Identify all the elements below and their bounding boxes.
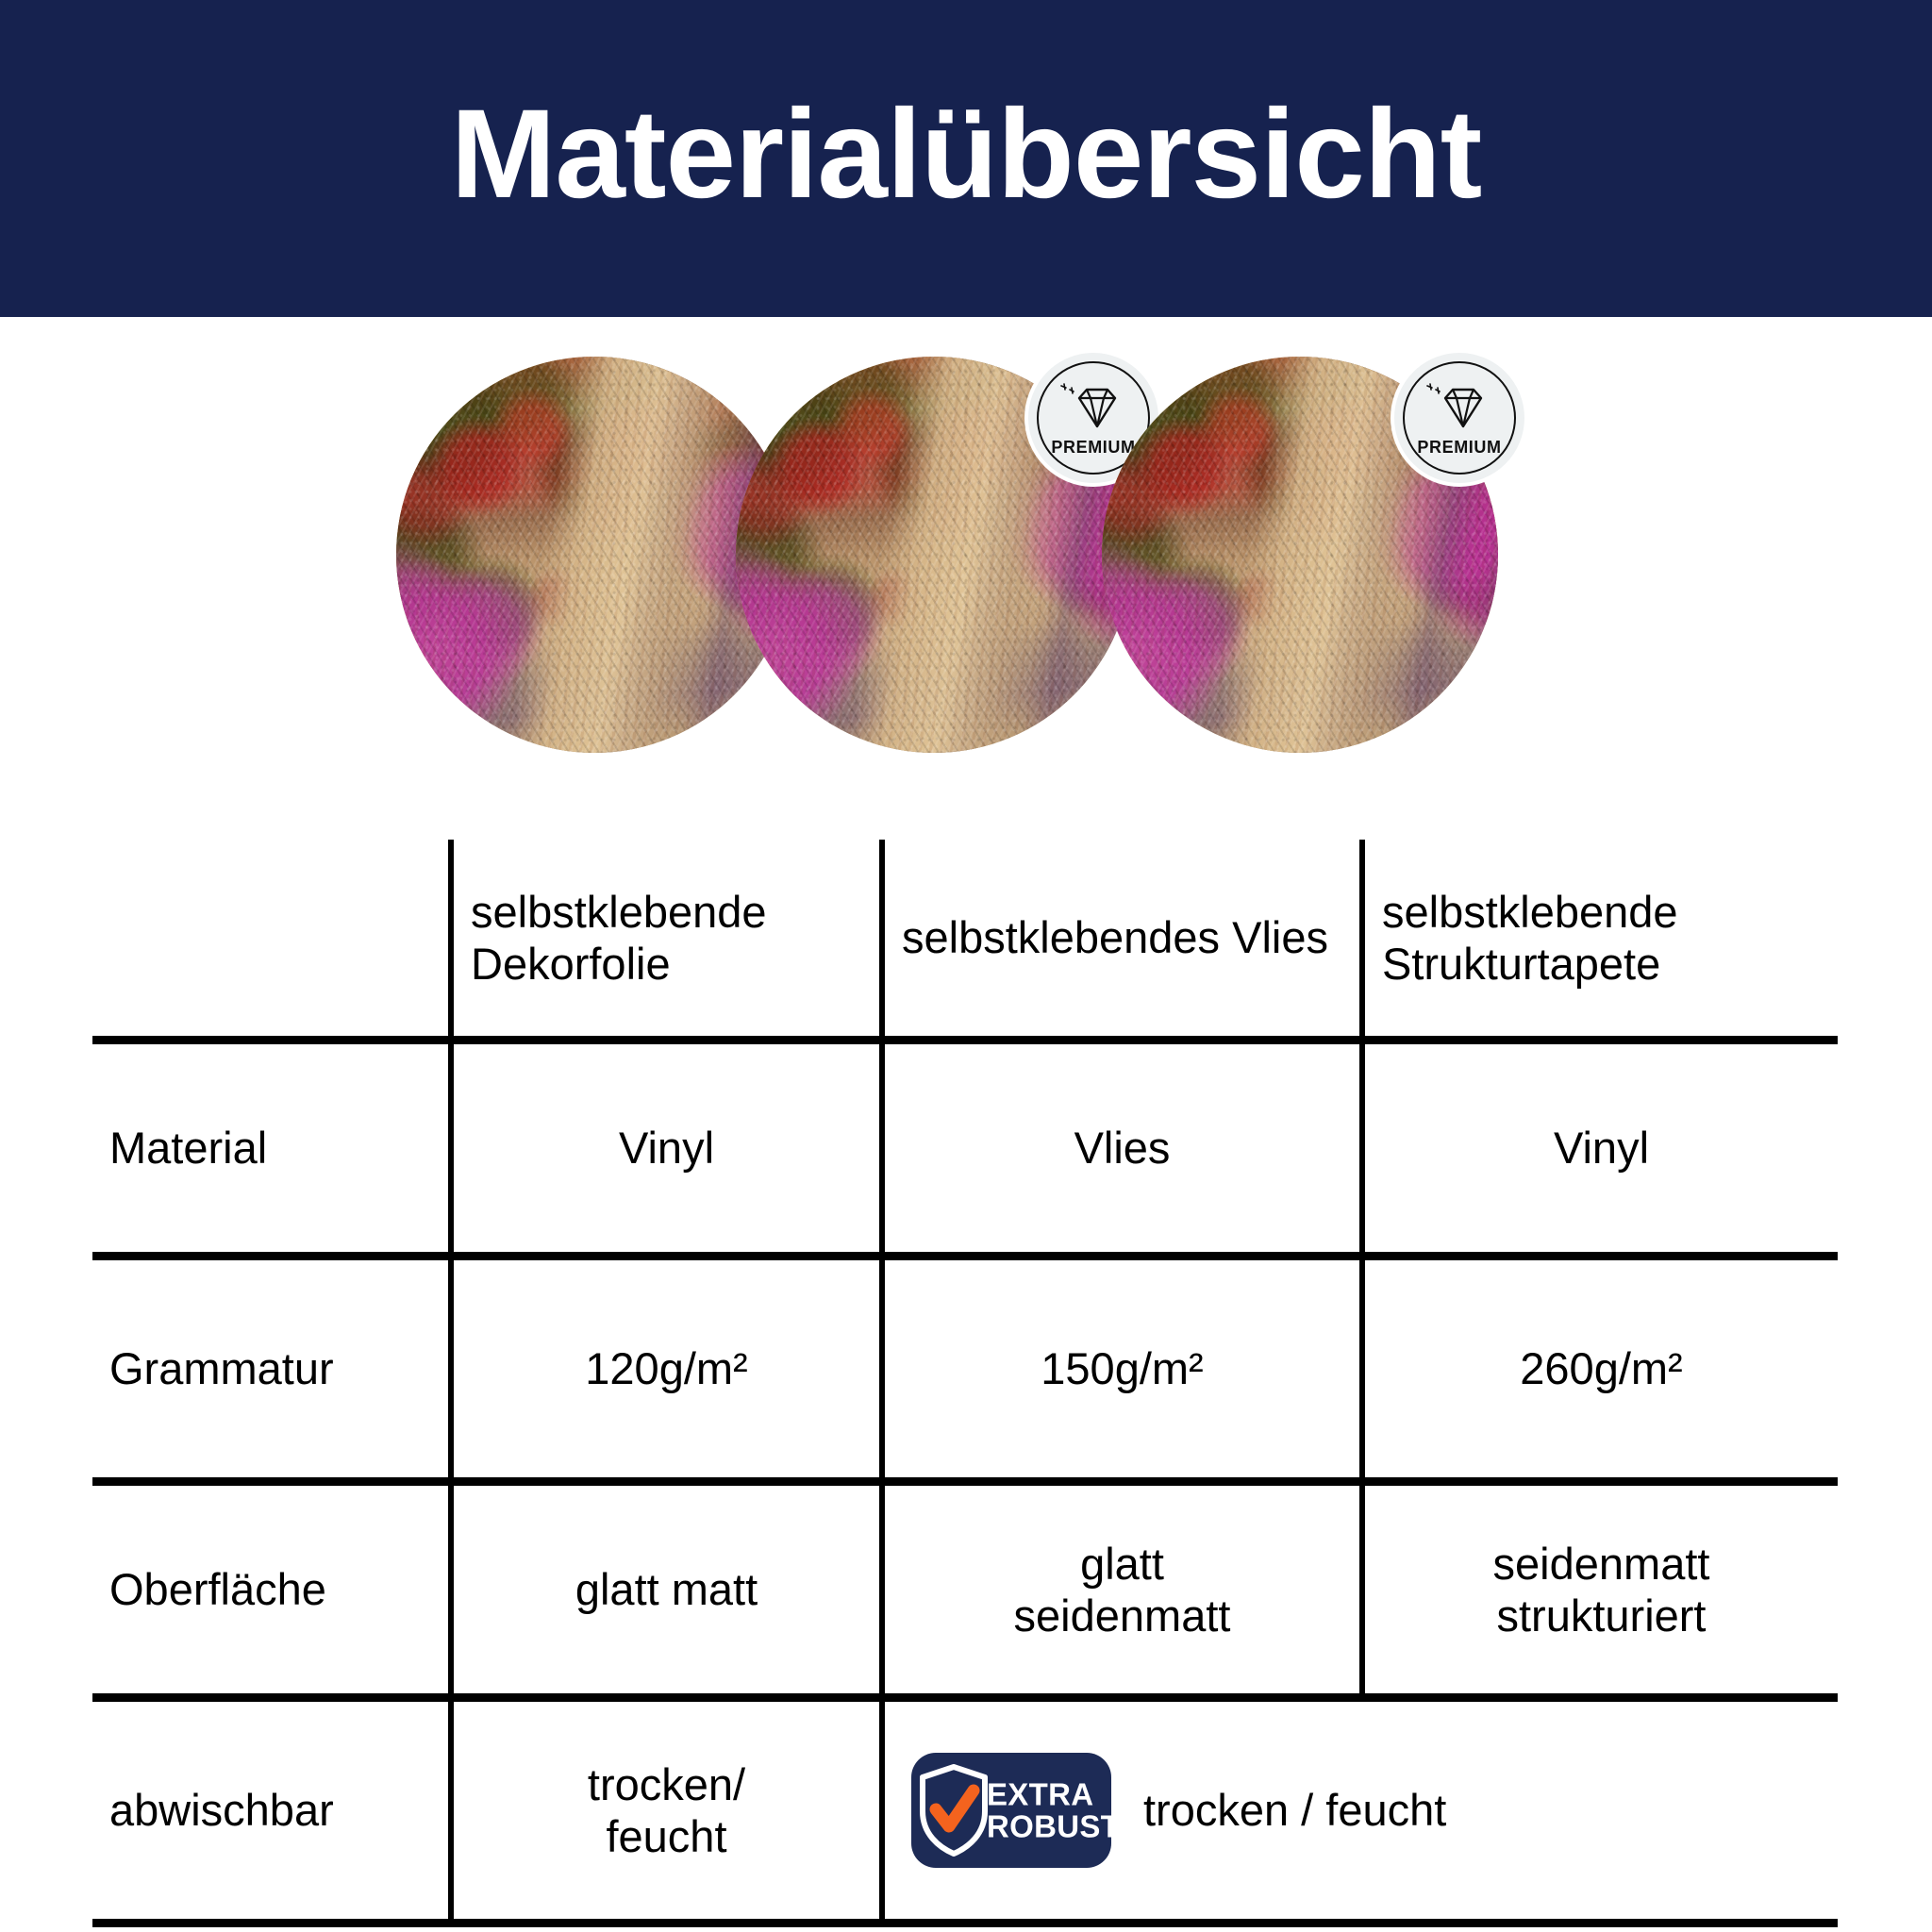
header-empty-cell <box>92 840 451 1041</box>
premium-badge: PREMIUM <box>1391 349 1528 487</box>
cell-material-strukturtapete: Vinyl <box>1362 1041 1838 1257</box>
row-label-abwischbar: abwischbar <box>92 1698 451 1924</box>
table-row-oberflaeche: Oberfläche glatt matt glatt seidenmatt s… <box>92 1482 1838 1698</box>
oberflaeche-vlies-line1: glatt <box>1080 1539 1164 1589</box>
cell-oberflaeche-dekorfolie: glatt matt <box>451 1482 882 1698</box>
material-comparison-table: selbstklebende Dekorfolie selbstklebende… <box>92 840 1838 1927</box>
row-label-oberflaeche: Oberfläche <box>92 1482 451 1698</box>
material-swatch-row: PREMIUM PREMIUM <box>0 357 1932 753</box>
cell-material-vlies: Vlies <box>882 1041 1362 1257</box>
table-row-grammatur: Grammatur 120g/m² 150g/m² 260g/m² <box>92 1257 1838 1482</box>
cell-material-dekorfolie: Vinyl <box>451 1041 882 1257</box>
abwischbar-merged-value: trocken / feucht <box>1143 1784 1446 1836</box>
table-header-row: selbstklebende Dekorfolie selbstklebende… <box>92 840 1838 1041</box>
table-row-abwischbar: abwischbar trocken/ feucht EXTRA ROBUST <box>92 1698 1838 1924</box>
extra-robust-text: EXTRA ROBUST <box>987 1778 1120 1841</box>
page-title: Materialübersicht <box>451 92 1482 218</box>
extra-robust-badge: EXTRA ROBUST <box>911 1753 1111 1868</box>
oberflaeche-vlies-line2: seidenmatt <box>1014 1591 1231 1641</box>
cell-grammatur-dekorfolie: 120g/m² <box>451 1257 882 1482</box>
cell-grammatur-vlies: 150g/m² <box>882 1257 1362 1482</box>
cell-oberflaeche-strukturtapete: seidenmatt strukturiert <box>1362 1482 1838 1698</box>
abwischbar-dekorfolie-line2: feucht <box>606 1811 726 1861</box>
diamond-icon <box>1424 382 1494 435</box>
swatch-vlies[interactable]: PREMIUM <box>736 357 1132 753</box>
shield-check-icon <box>919 1764 989 1857</box>
column-header-dekorfolie: selbstklebende Dekorfolie <box>451 840 882 1041</box>
oberflaeche-struktur-line2: strukturiert <box>1497 1591 1707 1641</box>
table-row-material: Material Vinyl Vlies Vinyl <box>92 1041 1838 1257</box>
swatch-dekorfolie[interactable] <box>396 357 792 753</box>
swatch-strukturtapete[interactable]: PREMIUM <box>1102 357 1498 753</box>
swatch-image <box>396 357 792 753</box>
column-header-vlies: selbstklebendes Vlies <box>882 840 1362 1041</box>
abwischbar-dekorfolie-line1: trocken/ <box>588 1759 745 1809</box>
cell-oberflaeche-vlies: glatt seidenmatt <box>882 1482 1362 1698</box>
cell-abwischbar-vlies-strukturtapete: EXTRA ROBUST trocken / feucht <box>882 1698 1838 1924</box>
cell-grammatur-strukturtapete: 260g/m² <box>1362 1257 1838 1482</box>
premium-badge-label: PREMIUM <box>1417 438 1501 458</box>
row-label-grammatur: Grammatur <box>92 1257 451 1482</box>
header-bar: Materialübersicht <box>0 0 1932 317</box>
cell-abwischbar-dekorfolie: trocken/ feucht <box>451 1698 882 1924</box>
row-label-material: Material <box>92 1041 451 1257</box>
column-header-strukturtapete: selbstklebende Strukturtapete <box>1362 840 1838 1041</box>
oberflaeche-struktur-line1: seidenmatt <box>1493 1539 1710 1589</box>
extra-robust-line2: ROBUST <box>987 1810 1120 1842</box>
extra-robust-line1: EXTRA <box>987 1776 1093 1811</box>
